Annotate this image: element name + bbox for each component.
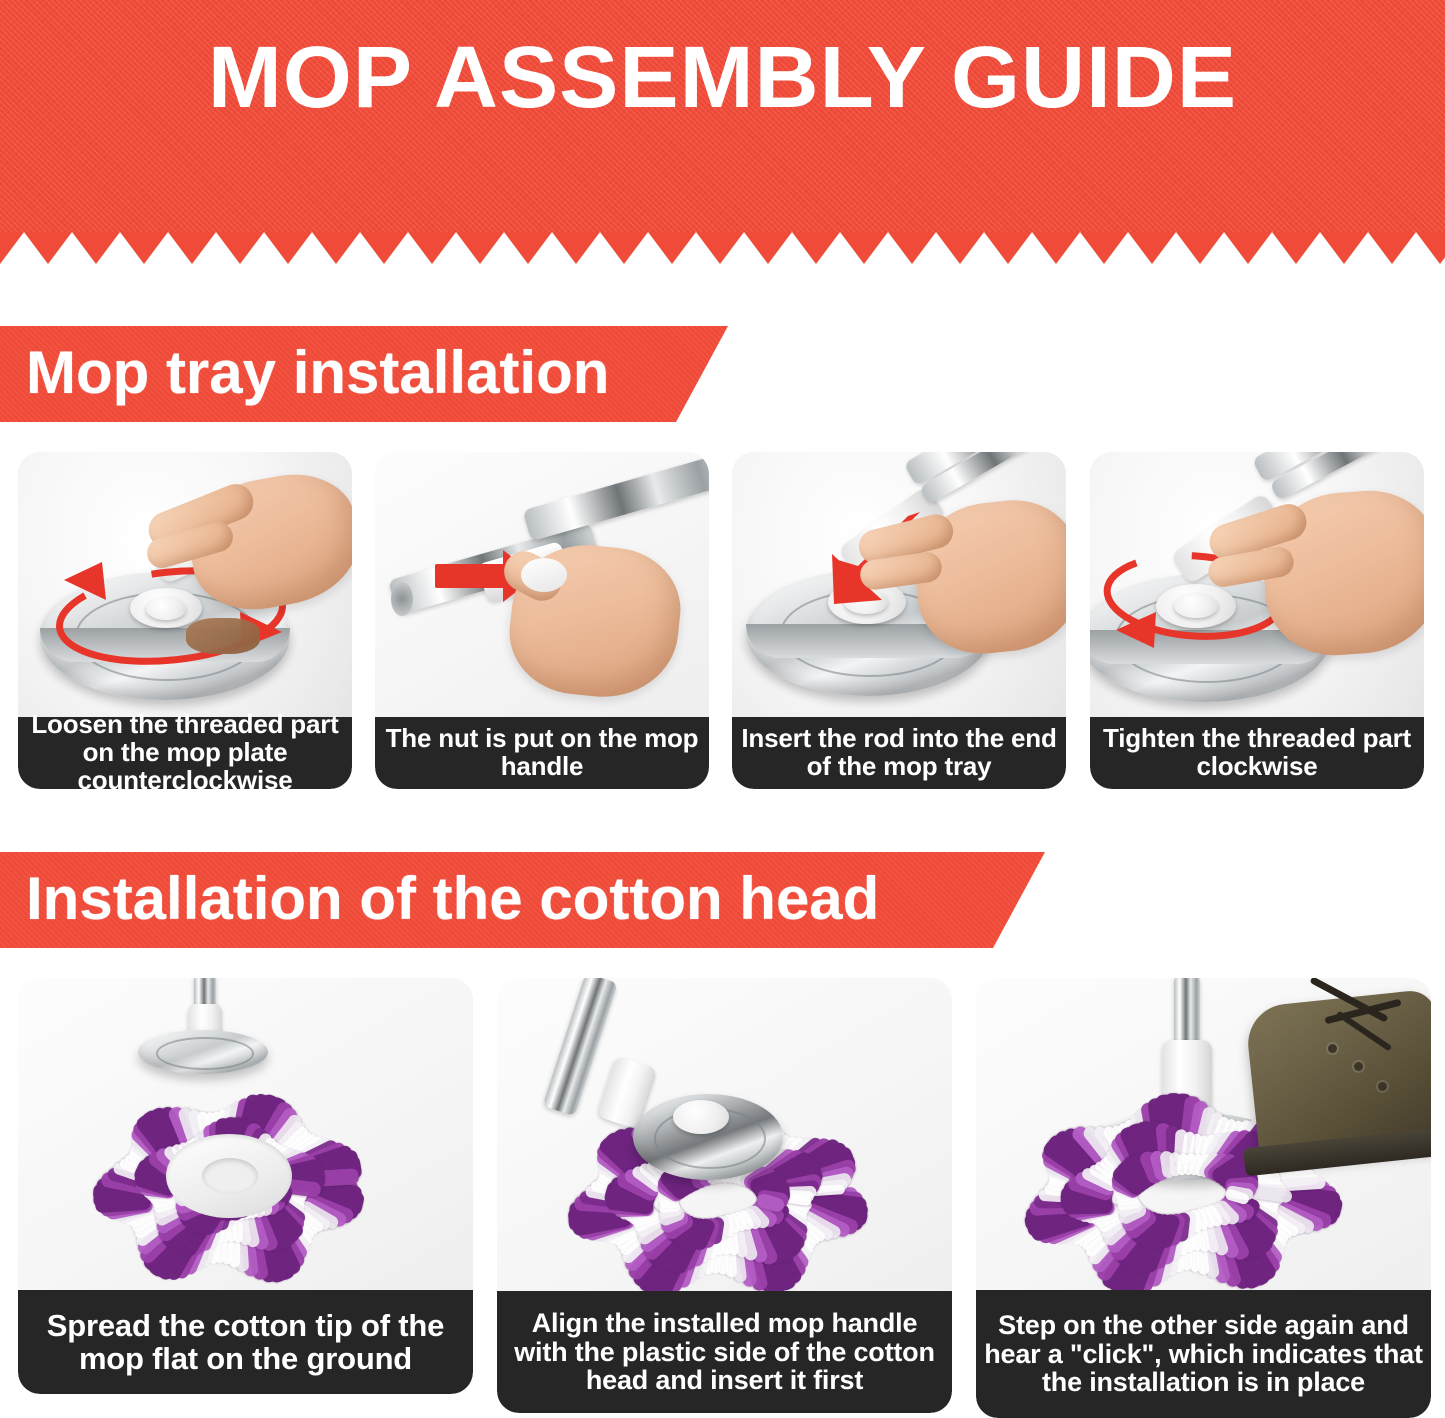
step-4-caption: Tighten the threaded part clockwise — [1090, 717, 1424, 789]
step-5-caption: Spread the cotton tip of the mop flat on… — [18, 1290, 473, 1394]
section-title-1: Mop tray installation — [26, 343, 609, 403]
page-title: MOP ASSEMBLY GUIDE — [0, 34, 1445, 121]
step-6-caption: Align the installed mop handle with the … — [497, 1291, 952, 1413]
section-banner-cotton-head: Installation of the cotton head — [0, 852, 1045, 948]
step-panel-5: Spread the cotton tip of the mop flat on… — [18, 978, 473, 1394]
insert-arrow-icon — [435, 564, 507, 588]
step-panel-6: Align the installed mop handle with the … — [497, 978, 952, 1413]
step-panel-4: Tighten the threaded part clockwise — [1090, 452, 1424, 789]
step-panel-3: Insert the rod into the end of the mop t… — [732, 452, 1066, 789]
step-1-caption: Loosen the threaded part on the mop plat… — [18, 717, 352, 789]
hero-banner: MOP ASSEMBLY GUIDE — [0, 0, 1445, 232]
step-7-caption: Step on the other side again and hear a … — [976, 1290, 1431, 1418]
infographic-page: MOP ASSEMBLY GUIDE Mop tray installation — [0, 0, 1445, 1418]
zigzag-edge — [0, 232, 1445, 264]
step-3-caption: Insert the rod into the end of the mop t… — [732, 717, 1066, 789]
section-title-2: Installation of the cotton head — [26, 869, 879, 929]
step-panel-2: The nut is put on the mop handle — [375, 452, 709, 789]
section-banner-mop-tray: Mop tray installation — [0, 326, 728, 422]
step-2-caption: The nut is put on the mop handle — [375, 717, 709, 789]
step-panel-7: Step on the other side again and hear a … — [976, 978, 1431, 1418]
step-panel-1: Loosen the threaded part on the mop plat… — [18, 452, 352, 789]
